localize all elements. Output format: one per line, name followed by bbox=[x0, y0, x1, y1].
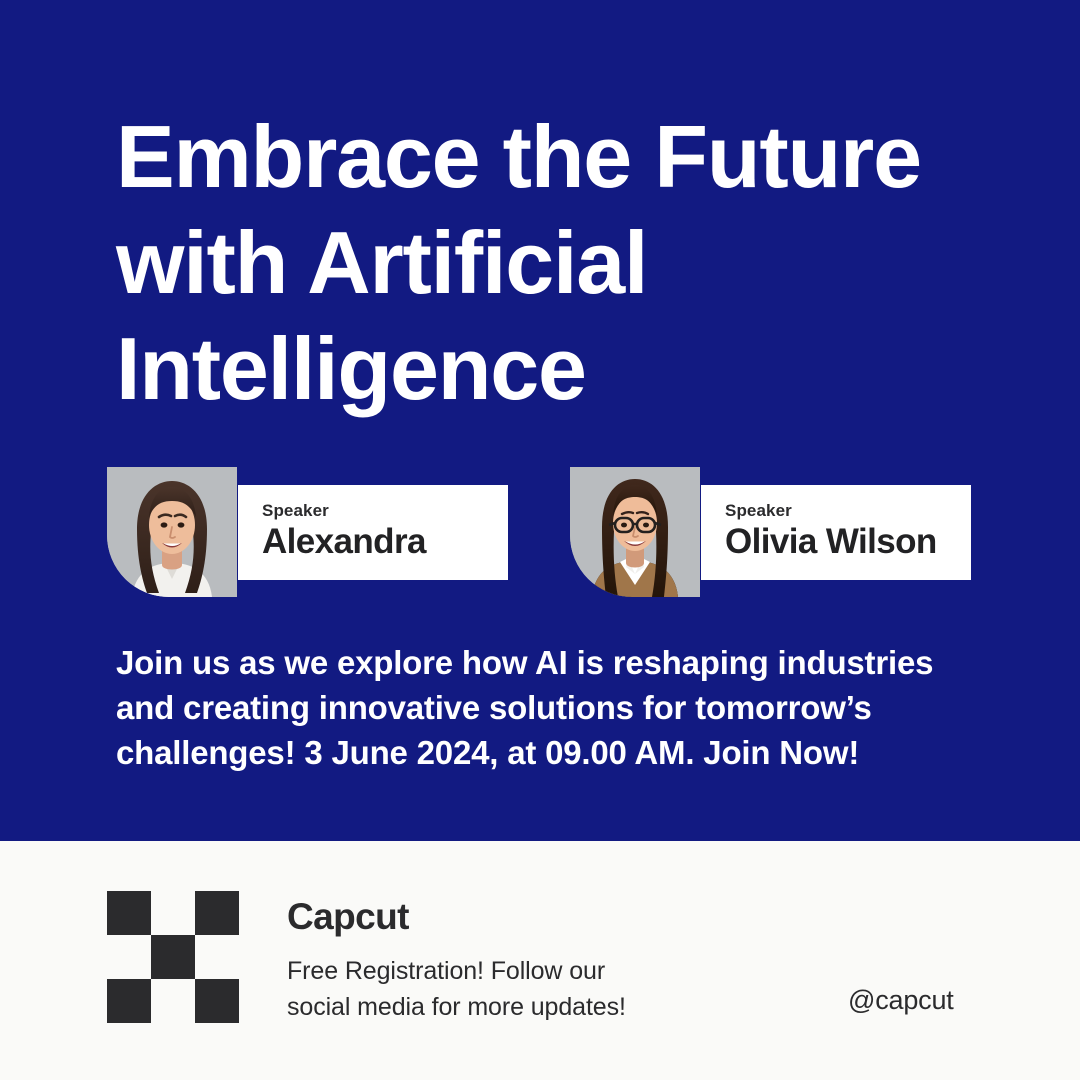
avatar bbox=[570, 467, 700, 597]
speaker-name-plate: Speaker Alexandra bbox=[238, 485, 508, 580]
hero-section: Embrace the Future with Artificial Intel… bbox=[0, 0, 1080, 841]
speaker-role-label: Speaker bbox=[725, 501, 792, 521]
speaker-list: Speaker Alexandra bbox=[0, 467, 1080, 599]
brand-name: Capcut bbox=[287, 896, 409, 938]
event-description: Join us as we explore how AI is reshapin… bbox=[116, 640, 996, 775]
speaker-name-plate: Speaker Olivia Wilson bbox=[701, 485, 971, 580]
speaker-card[interactable]: Speaker Olivia Wilson bbox=[570, 467, 971, 599]
speaker-card[interactable]: Speaker Alexandra bbox=[107, 467, 508, 599]
speaker-role-label: Speaker bbox=[262, 501, 329, 521]
footer-tagline: Free Registration! Follow our social med… bbox=[287, 953, 727, 1025]
event-poster: Embrace the Future with Artificial Intel… bbox=[0, 0, 1080, 1080]
speaker-name: Olivia Wilson bbox=[725, 522, 937, 562]
social-handle[interactable]: @capcut bbox=[848, 985, 954, 1016]
page-title: Embrace the Future with Artificial Intel… bbox=[116, 104, 996, 422]
checkerboard-logo-icon bbox=[107, 891, 239, 1023]
speaker-name: Alexandra bbox=[262, 522, 426, 562]
avatar bbox=[107, 467, 237, 597]
